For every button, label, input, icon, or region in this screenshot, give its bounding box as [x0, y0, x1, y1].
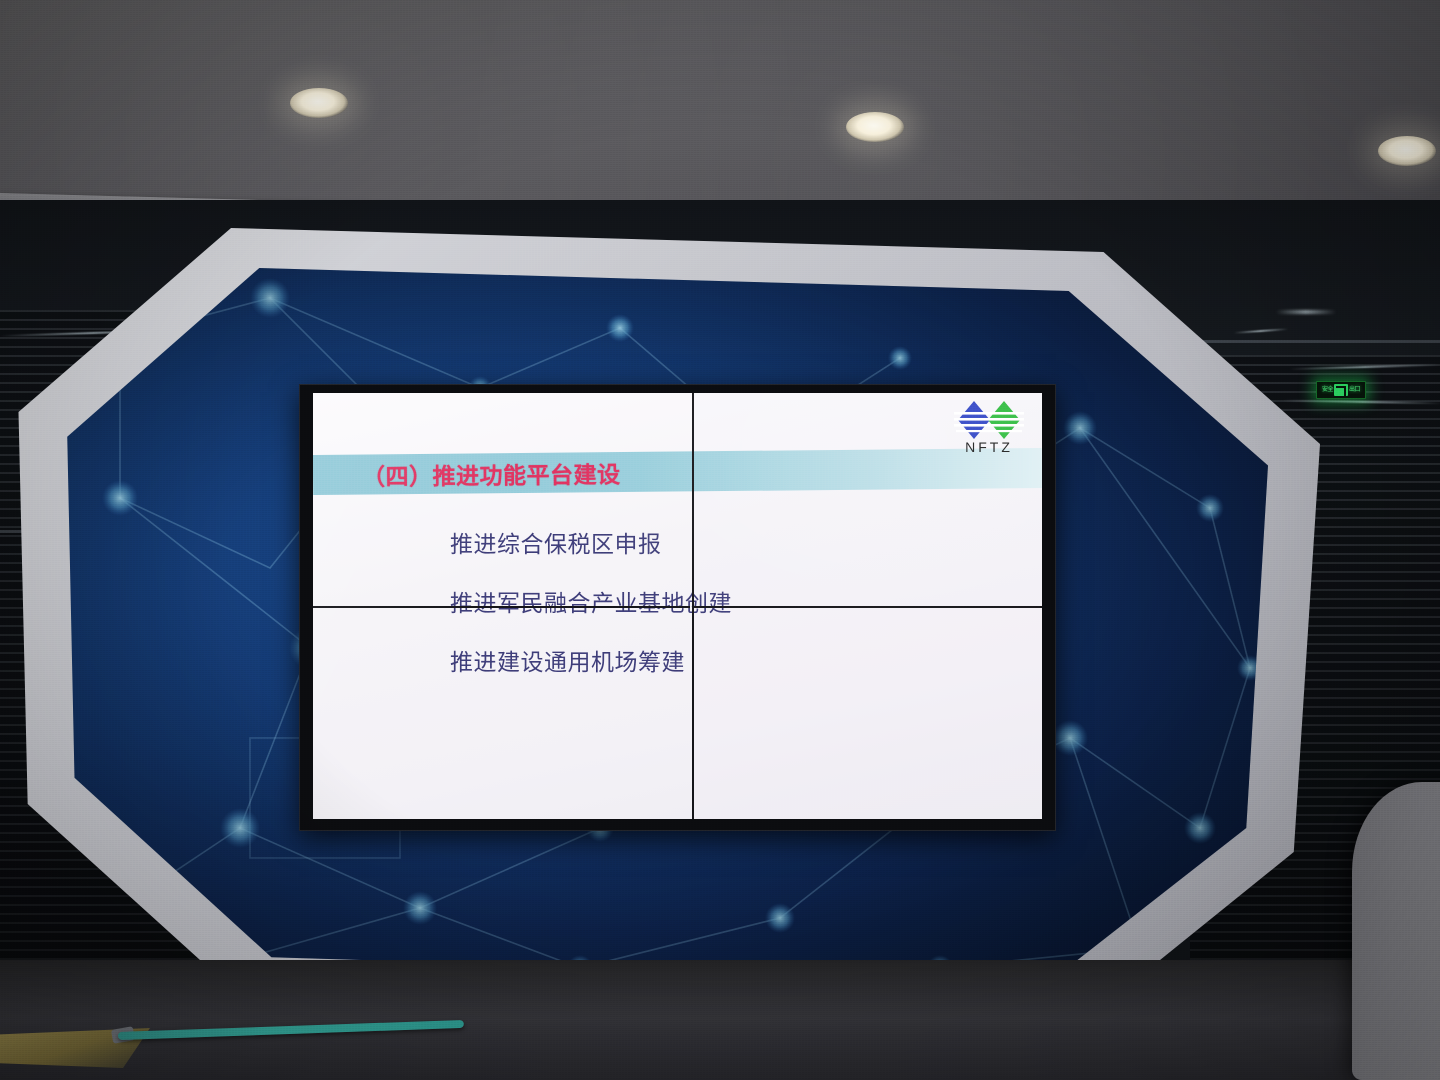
- nftz-diamond-mark-icon: [952, 399, 1026, 441]
- recessed-downlight-icon: [1378, 136, 1436, 166]
- lounge-chair: [1352, 782, 1440, 1080]
- running-man-icon: [1334, 384, 1348, 396]
- video-wall-seam-horizontal-right: [692, 606, 1042, 608]
- conference-room-scene: 安全 出口: [0, 0, 1440, 1080]
- recessed-downlight-icon: [290, 88, 348, 118]
- nftz-logo: NFTZ: [950, 399, 1028, 461]
- floor-shadow: [0, 960, 1440, 1020]
- slide-title: （四）推进功能平台建设: [362, 453, 621, 495]
- exit-sign-text-left: 安全: [1322, 387, 1333, 393]
- ceiling-strip-light: [1276, 310, 1336, 314]
- nftz-wordmark: NFTZ: [965, 439, 1013, 455]
- recessed-downlight-icon: [846, 112, 904, 142]
- slide-bullet-item: 推进建设通用机场筹建: [450, 651, 732, 674]
- emergency-exit-sign: 安全 出口: [1316, 381, 1366, 399]
- slide-bullet-item: 推进综合保税区申报: [450, 533, 732, 556]
- window-mullion: [1190, 340, 1440, 343]
- slide-bullet-item: 推进军民融合产业基地创建: [450, 592, 732, 615]
- video-wall-screen[interactable]: （四）推进功能平台建设 推进综合保税区申报 推进军民融合产业基地创建 推进建设通…: [313, 393, 1042, 819]
- video-wall-seam-horizontal-left: [313, 606, 690, 608]
- exit-sign-text-right: 出口: [1349, 387, 1360, 393]
- carpet-floor: [0, 960, 1440, 1080]
- slide-bullet-list: 推进综合保税区申报 推进军民融合产业基地创建 推进建设通用机场筹建: [450, 533, 732, 710]
- video-wall-bezel: （四）推进功能平台建设 推进综合保税区申报 推进军民融合产业基地创建 推进建设通…: [299, 384, 1056, 831]
